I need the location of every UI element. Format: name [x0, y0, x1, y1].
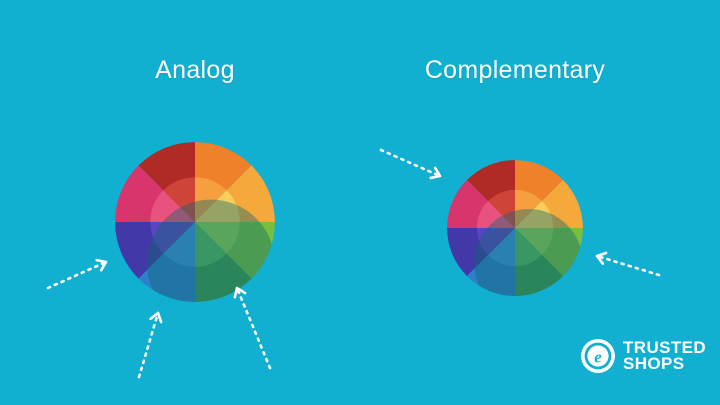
arrow-head-icon	[97, 260, 106, 270]
arrow-right-middle-right	[597, 253, 659, 275]
wheel-shade-overlay	[147, 200, 275, 328]
logo-line-shops: SHOPS	[623, 356, 706, 372]
trusted-shops-e-icon: e	[580, 338, 616, 374]
wheel-shade-overlay	[474, 209, 583, 318]
arrow-head-icon	[151, 313, 162, 322]
trusted-shops-logo: e TRUSTED SHOPS	[580, 338, 706, 374]
arrow-right-upper-left	[381, 150, 440, 178]
trusted-shops-wordmark: TRUSTED SHOPS	[623, 340, 706, 372]
arrow-left-lower-left	[48, 260, 106, 288]
wheel-title-analog: Analog	[155, 56, 235, 85]
wheel-title-complementary: Complementary	[425, 56, 605, 85]
complementary-color-wheel[interactable]	[445, 158, 585, 298]
arrow-head-icon	[431, 168, 440, 178]
arrow-left-bottom-inner	[139, 313, 161, 377]
analog-color-wheel[interactable]	[113, 140, 277, 304]
arrow-head-icon	[597, 253, 606, 264]
slide-canvas: Analog Complementary e TRUSTED SHOPS	[0, 0, 720, 405]
trusted-shops-e-glyph: e	[594, 347, 602, 366]
